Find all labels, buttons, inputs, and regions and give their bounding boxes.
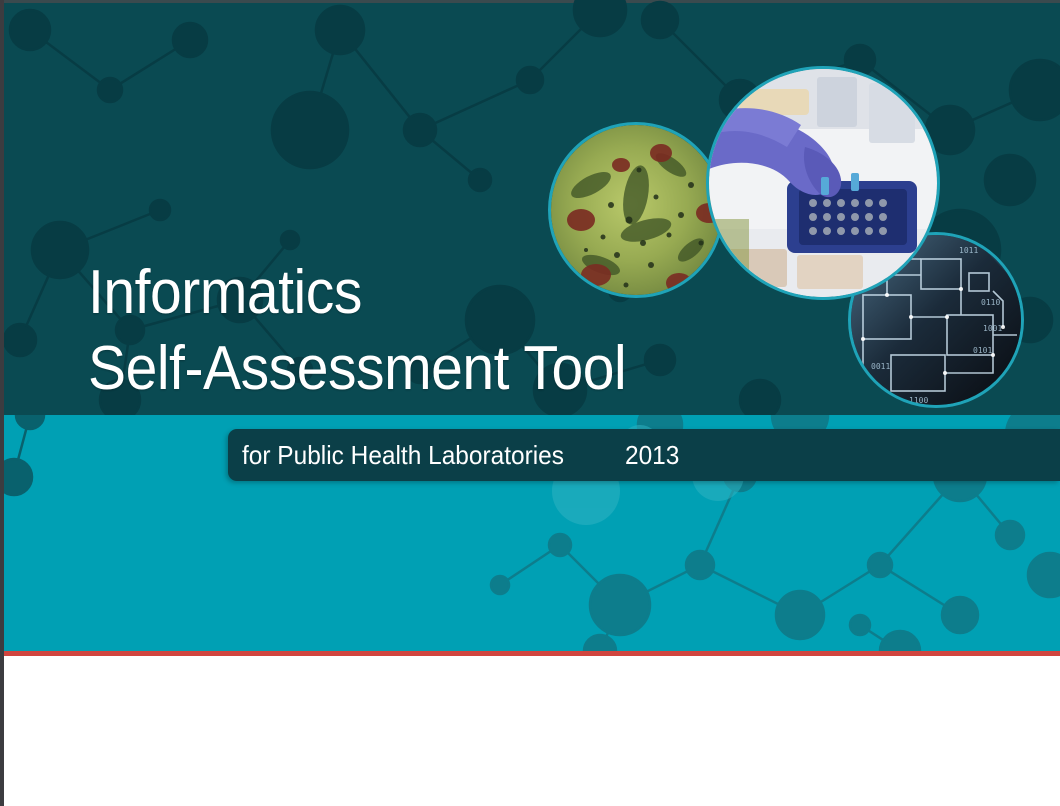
title-line-2: Self-Assessment Tool xyxy=(88,338,626,400)
subtitle-bar: for Public Health Laboratories 2013 xyxy=(228,429,1060,481)
title-line-1: Informatics xyxy=(88,262,626,324)
svg-text:1011: 1011 xyxy=(959,246,978,255)
svg-text:0110: 0110 xyxy=(981,298,1000,307)
cover-page: 10110110 10010101 11000011 Informatics S… xyxy=(0,0,1060,806)
page-title: Informatics Self-Assessment Tool xyxy=(88,262,673,400)
svg-text:0101: 0101 xyxy=(973,346,992,355)
svg-text:0011: 0011 xyxy=(871,362,890,371)
footer-logos: APHL ASSOCIATION OF PUBLIC HEALTH LABORA… xyxy=(0,656,1060,806)
subtitle-year: 2013 xyxy=(625,440,679,471)
svg-text:1100: 1100 xyxy=(909,396,928,405)
photo-lab-technician-pipetting xyxy=(706,66,940,300)
left-edge-line xyxy=(0,0,4,806)
hero-banner: 10110110 10010101 11000011 Informatics S… xyxy=(0,0,1060,415)
subtitle-text: for Public Health Laboratories xyxy=(242,440,564,471)
svg-text:1001: 1001 xyxy=(983,324,1002,333)
